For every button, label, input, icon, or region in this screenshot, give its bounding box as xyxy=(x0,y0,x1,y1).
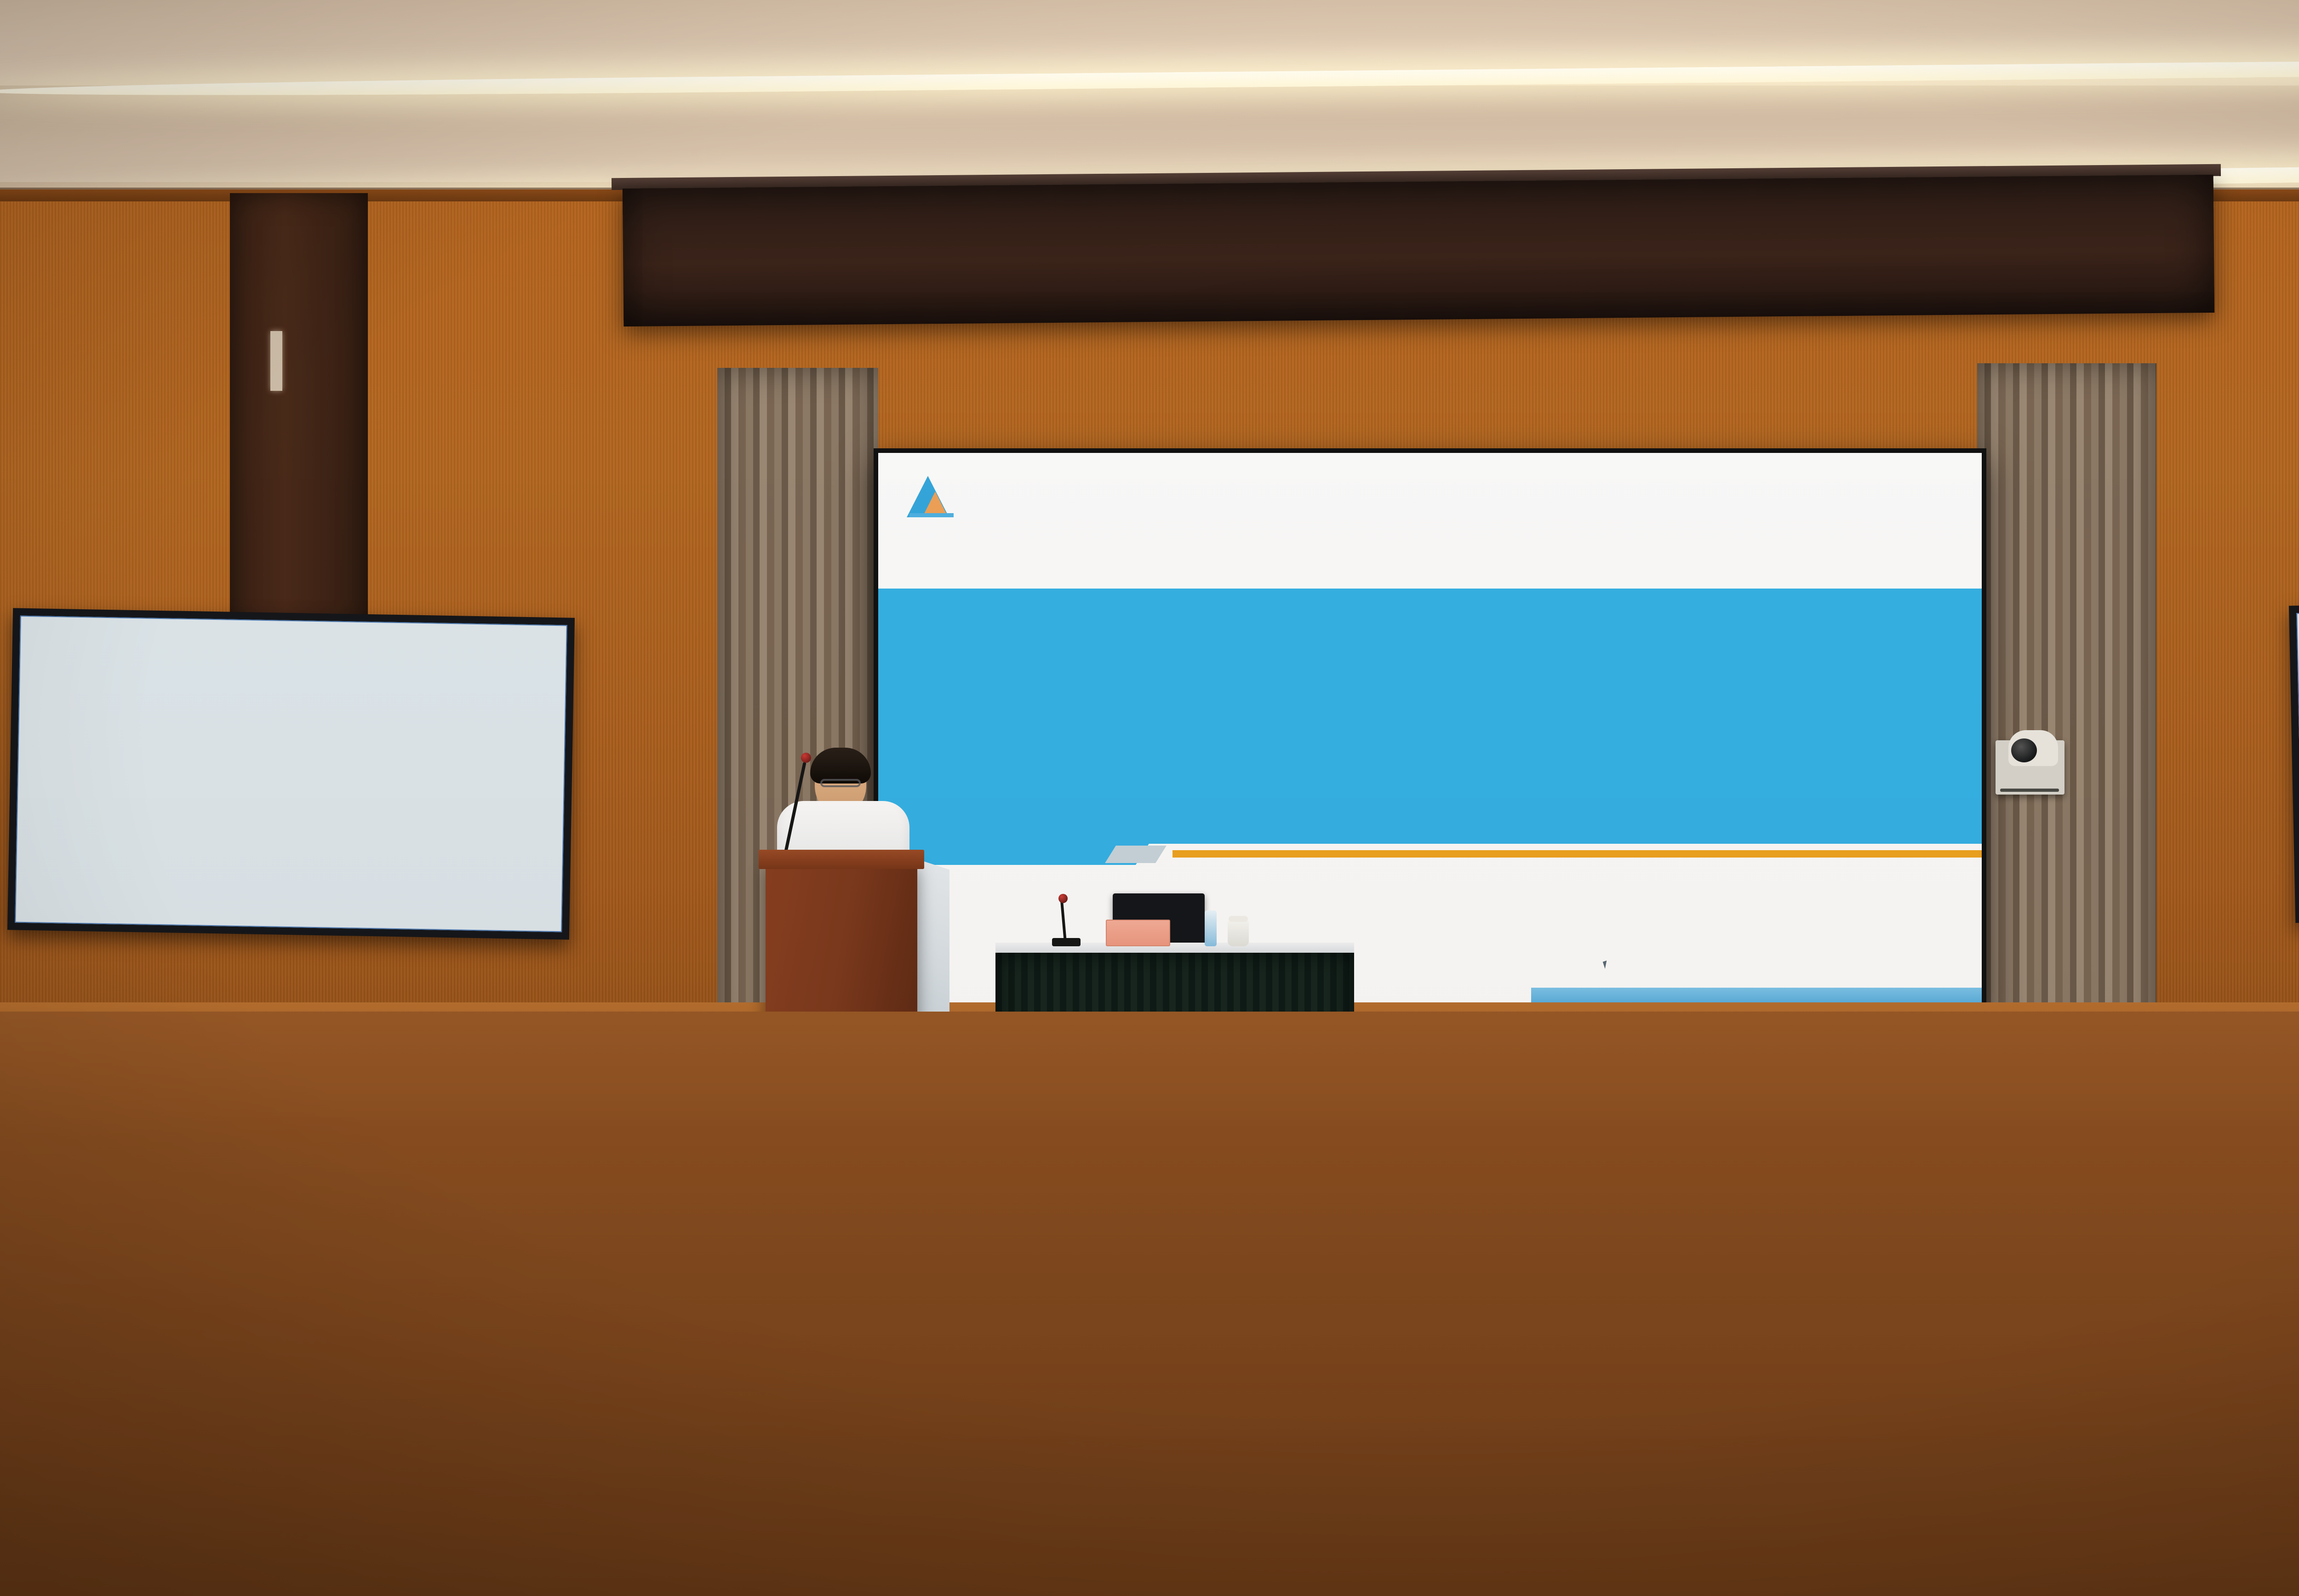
company-logo xyxy=(907,475,965,517)
wall-mounted-ptz-camera xyxy=(1996,730,2078,799)
pilaster-light-slot-left xyxy=(270,331,282,391)
audience-area xyxy=(0,1012,2299,1596)
mug-presidium xyxy=(1228,920,1249,946)
desk-microphone-head-icon xyxy=(1058,894,1068,903)
camera-lens-icon xyxy=(2011,738,2037,762)
projection-screen-frame xyxy=(874,448,1986,1016)
video-conference-grid-right xyxy=(2296,602,2299,915)
mug-lid xyxy=(1229,916,1248,922)
video-conference-grid-left xyxy=(15,616,567,932)
banner-text xyxy=(623,244,2214,257)
conference-hall-photo xyxy=(0,0,2299,1596)
projection-screen xyxy=(878,453,1982,1012)
led-banner xyxy=(623,175,2214,326)
cam-triangle-logo-icon xyxy=(907,475,956,517)
slide-accent-stripes xyxy=(878,844,1982,865)
slide-header xyxy=(878,453,1982,589)
stage-curtain-right xyxy=(1977,363,2156,1044)
speaker-glasses xyxy=(820,779,861,787)
mouse-cursor-icon xyxy=(1603,961,1609,969)
podium-top xyxy=(759,850,924,869)
desk-microphone-base xyxy=(1052,938,1081,946)
podium-microphone-head-icon xyxy=(801,753,811,763)
nameplate-presidium xyxy=(1106,920,1170,946)
water-bottle-presidium xyxy=(1205,910,1217,946)
wall-monitor-left xyxy=(7,608,575,939)
slide-title-band xyxy=(878,589,1982,844)
wall-pilaster-left xyxy=(230,193,368,635)
